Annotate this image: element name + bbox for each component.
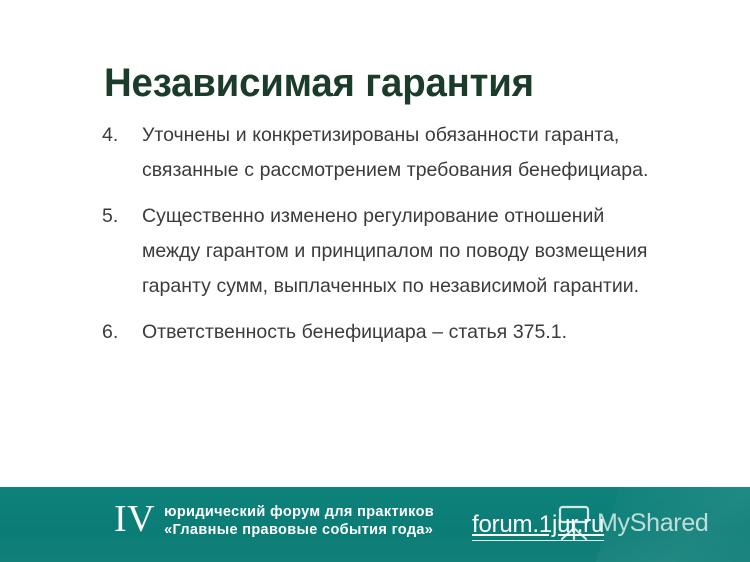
footer-sheen-decoration: [591, 487, 750, 562]
forum-numeral-four: IV: [114, 501, 155, 537]
list-item: 5. Существенно изменено регулирование от…: [100, 199, 660, 304]
footer-band: IV юридический форум для практиков «Глав…: [0, 487, 750, 562]
myshared-watermark-text: MyShared: [597, 508, 709, 538]
forum-brand-lines: юридический форум для практиков «Главные…: [164, 500, 434, 539]
list-item: 4. Уточнены и конкретизированы обязаннос…: [100, 118, 660, 188]
list-item-text: Уточнены и конкретизированы обязанности …: [142, 118, 660, 188]
page-title: Независимая гарантия: [104, 61, 680, 106]
list-item-text: Ответственность бенефициара – статья 375…: [142, 315, 660, 350]
forum-tagline-secondary: «Главные правовые события года»: [164, 521, 434, 539]
list-item-text: Существенно изменено регулирование отнош…: [142, 199, 660, 304]
forum-tagline-primary: юридический форум для практиков: [164, 503, 434, 521]
forum-brand: IV юридический форум для практиков «Глав…: [114, 500, 434, 539]
list-item-number: 5.: [102, 199, 132, 234]
numbered-content-list: 4. Уточнены и конкретизированы обязаннос…: [100, 118, 660, 350]
presentation-slide: Независимая гарантия 4. Уточнены и конкр…: [0, 0, 750, 562]
list-item: 6. Ответственность бенефициара – статья …: [100, 315, 660, 350]
forum-url-link[interactable]: forum.1jur.ru: [472, 511, 604, 541]
list-item-number: 4.: [102, 118, 132, 153]
list-item-number: 6.: [102, 315, 132, 350]
